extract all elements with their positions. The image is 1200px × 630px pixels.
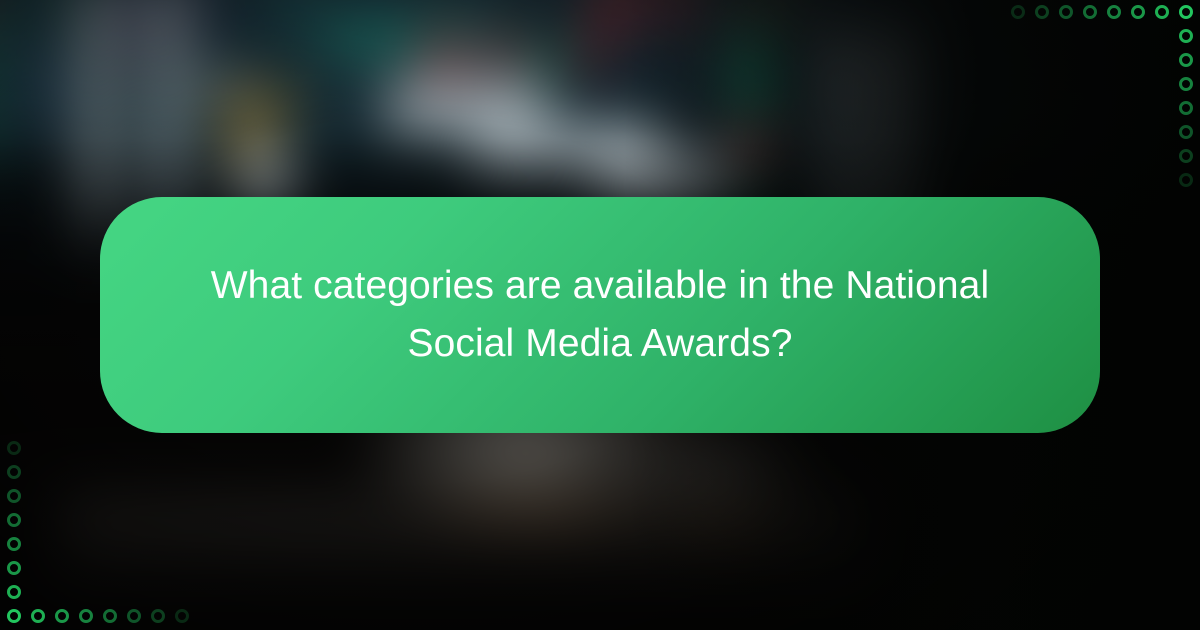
decorative-ring-icon: [7, 537, 21, 551]
decorative-ring-icon: [7, 585, 21, 599]
decorative-ring-icon: [127, 609, 141, 623]
decorative-ring-icon: [7, 441, 21, 455]
decorative-ring-icon: [7, 465, 21, 479]
decorative-ring-icon: [7, 609, 21, 623]
decorative-ring-icon: [7, 561, 21, 575]
decorative-ring-icon: [151, 609, 165, 623]
decorative-ring-icon: [103, 609, 117, 623]
decorative-ring-icon: [31, 609, 45, 623]
decorative-ring-icon: [175, 609, 189, 623]
decorative-ring-icon: [7, 513, 21, 527]
question-text: What categories are available in the Nat…: [166, 257, 1034, 372]
question-card: What categories are available in the Nat…: [100, 197, 1100, 433]
decorative-ring-icon: [7, 489, 21, 503]
share-card-canvas: What categories are available in the Nat…: [0, 0, 1200, 630]
decorative-ring-icon: [55, 609, 69, 623]
decorative-ring-icon: [79, 609, 93, 623]
